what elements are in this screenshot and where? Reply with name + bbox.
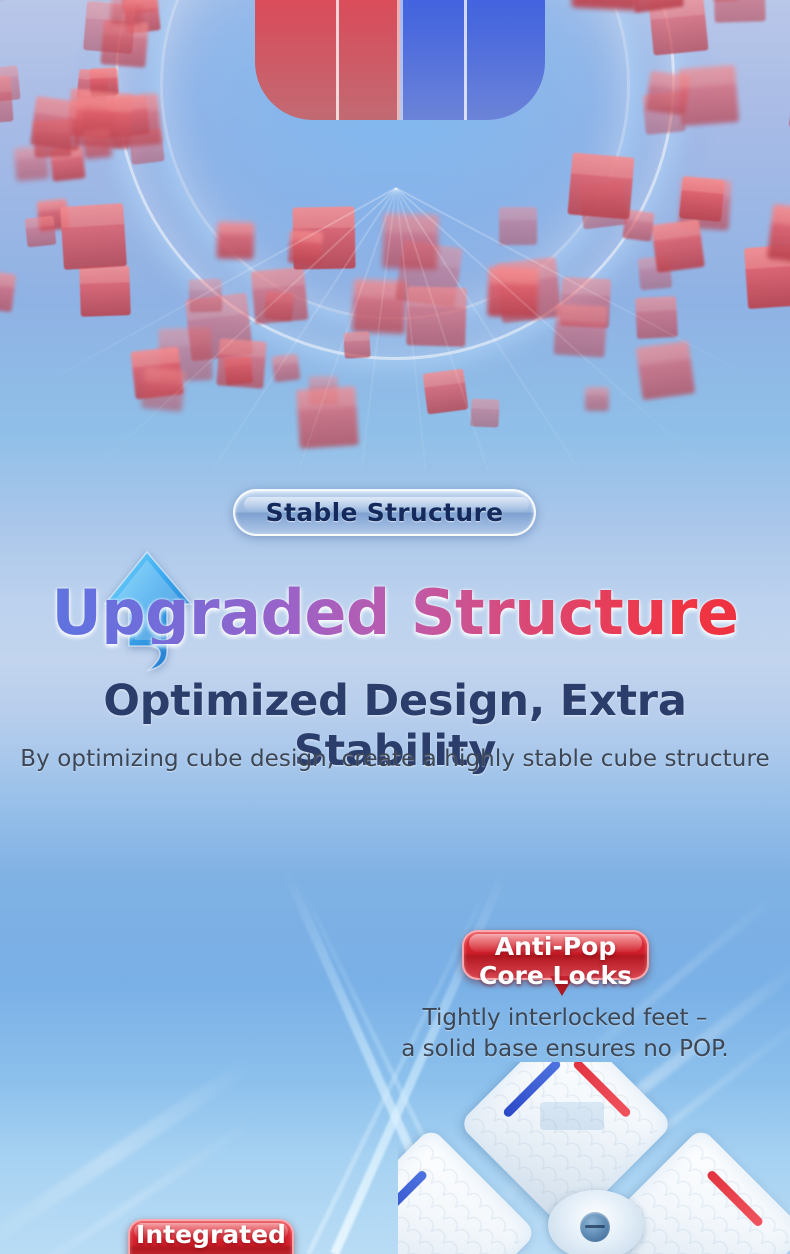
- background-arc: [0, 0, 790, 480]
- anti-pop-badge-line2: Core Locks: [462, 962, 649, 991]
- integrated-badge-line1: Integrated: [128, 1221, 294, 1250]
- anti-pop-badge-text: Anti-Pop Core Locks: [462, 933, 649, 990]
- hero-description: By optimizing cube design, create a high…: [0, 746, 790, 772]
- anti-pop-description-line2: a solid base ensures no POP.: [370, 1034, 760, 1065]
- page-title: Upgraded Structure: [0, 582, 790, 644]
- integrated-badge: Integrated: [128, 1219, 294, 1254]
- stable-structure-badge: Stable Structure: [233, 489, 536, 536]
- core-screw-icon: [580, 1212, 610, 1242]
- brand-logo-emboss: [540, 1102, 604, 1130]
- anti-pop-description: Tightly interlocked feet – a solid base …: [370, 1003, 760, 1066]
- anti-pop-badge-line1: Anti-Pop: [462, 933, 649, 962]
- cube-core-product-image: [398, 1062, 790, 1254]
- stable-structure-badge-label: Stable Structure: [266, 498, 504, 527]
- anti-pop-core-locks-badge: Anti-Pop Core Locks: [462, 930, 649, 980]
- anti-pop-description-line1: Tightly interlocked feet –: [370, 1003, 760, 1034]
- product-marketing-banner: Stable Structure Upgraded Structure Opti…: [0, 0, 790, 1254]
- integrated-badge-text: Integrated: [128, 1221, 294, 1250]
